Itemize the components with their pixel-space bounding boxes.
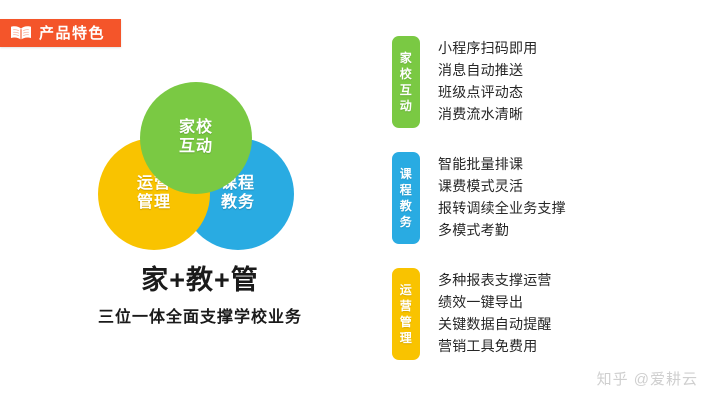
feature-item: 小程序扫码即用 bbox=[438, 37, 537, 59]
venn-circle-label-line2: 互动 bbox=[179, 138, 213, 157]
feature-item: 关键数据自动提醒 bbox=[438, 313, 552, 335]
feature-tab-char: 理 bbox=[400, 330, 413, 346]
feature-tab-char: 校 bbox=[400, 66, 413, 82]
venn-diagram: 家校 互动 运营 管理 课程 教务 bbox=[96, 82, 296, 252]
header-banner: 产品特色 bbox=[0, 19, 121, 47]
feature-tab-char: 互 bbox=[400, 82, 413, 98]
feature-tab-char: 管 bbox=[400, 314, 413, 330]
feature-tab-char: 运 bbox=[400, 282, 413, 298]
feature-tab-char: 营 bbox=[400, 298, 413, 314]
feature-item: 多种报表支撑运营 bbox=[438, 269, 552, 291]
feature-item: 班级点评动态 bbox=[438, 81, 537, 103]
venn-subheadline: 三位一体全面支撑学校业务 bbox=[50, 308, 350, 327]
venn-circle-label-line1: 家校 bbox=[179, 119, 213, 138]
venn-circle-home-school-interaction[interactable]: 家校 互动 bbox=[140, 82, 252, 194]
feature-tab-char: 课 bbox=[400, 166, 413, 182]
feature-tab-operation-management[interactable]: 运 营 管 理 bbox=[392, 268, 420, 360]
feature-tab-course-affairs[interactable]: 课 程 教 务 bbox=[392, 152, 420, 244]
feature-item-list: 多种报表支撑运营 绩效一键导出 关键数据自动提醒 营销工具免费用 bbox=[438, 268, 552, 357]
page-title: 产品特色 bbox=[39, 26, 105, 41]
feature-tab-char: 程 bbox=[400, 182, 413, 198]
feature-item-list: 小程序扫码即用 消息自动推送 班级点评动态 消费流水清晰 bbox=[438, 36, 537, 125]
venn-headline: 家+教+管 bbox=[60, 266, 340, 296]
feature-tab-char: 家 bbox=[400, 50, 413, 66]
feature-item: 多模式考勤 bbox=[438, 219, 566, 241]
feature-tab-char: 教 bbox=[400, 198, 413, 214]
feature-group-course-affairs: 课 程 教 务 智能批量排课 课费模式灵活 报转调续全业务支撑 多模式考勤 bbox=[392, 152, 566, 244]
feature-item: 营销工具免费用 bbox=[438, 335, 552, 357]
venn-circle-label-line2: 教务 bbox=[221, 194, 255, 213]
open-book-icon bbox=[10, 25, 32, 41]
venn-circle-label-line2: 管理 bbox=[137, 194, 171, 213]
watermark: 知乎 @爱耕云 bbox=[597, 372, 698, 387]
feature-tab-char: 动 bbox=[400, 98, 413, 114]
feature-item: 消费流水清晰 bbox=[438, 103, 537, 125]
feature-group-home-school-interaction: 家 校 互 动 小程序扫码即用 消息自动推送 班级点评动态 消费流水清晰 bbox=[392, 36, 537, 128]
feature-item: 绩效一键导出 bbox=[438, 291, 552, 313]
feature-group-operation-management: 运 营 管 理 多种报表支撑运营 绩效一键导出 关键数据自动提醒 营销工具免费用 bbox=[392, 268, 552, 360]
feature-item: 智能批量排课 bbox=[438, 153, 566, 175]
feature-panel: 家 校 互 动 小程序扫码即用 消息自动推送 班级点评动态 消费流水清晰 课 程… bbox=[392, 36, 692, 366]
slide-canvas: 产品特色 家校 互动 运营 管理 课程 教务 家+教+管 三位一体全面支撑学校业… bbox=[0, 0, 720, 400]
feature-tab-home-school-interaction[interactable]: 家 校 互 动 bbox=[392, 36, 420, 128]
feature-item: 消息自动推送 bbox=[438, 59, 537, 81]
feature-item-list: 智能批量排课 课费模式灵活 报转调续全业务支撑 多模式考勤 bbox=[438, 152, 566, 241]
feature-tab-char: 务 bbox=[400, 214, 413, 230]
feature-item: 报转调续全业务支撑 bbox=[438, 197, 566, 219]
feature-item: 课费模式灵活 bbox=[438, 175, 566, 197]
